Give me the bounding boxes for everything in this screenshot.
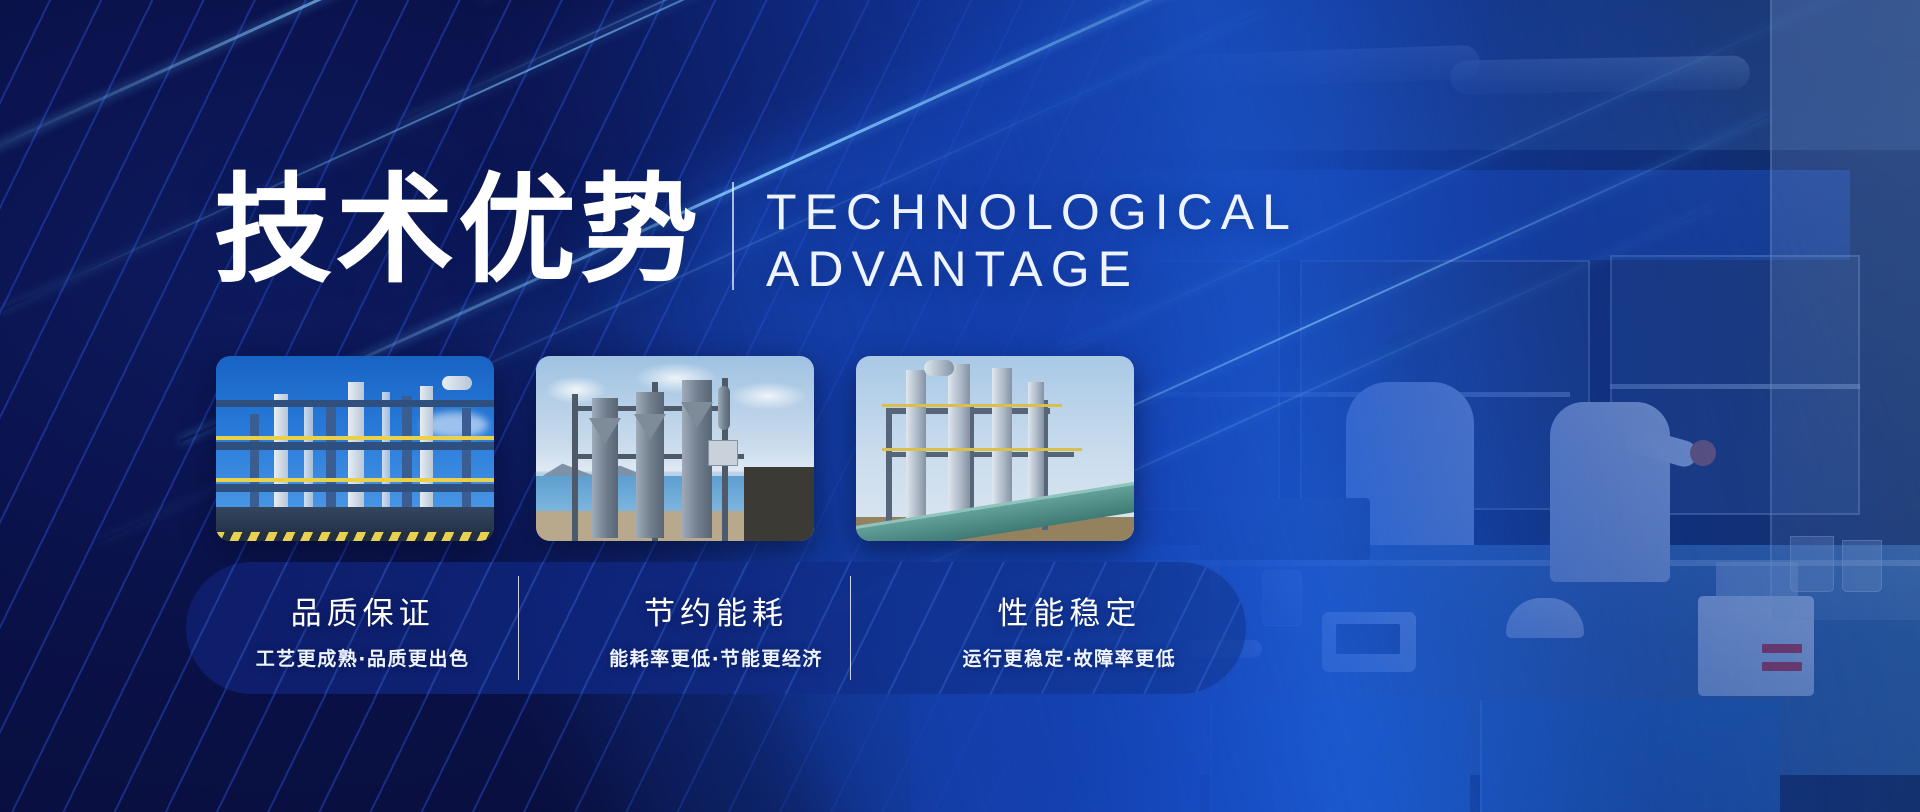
feature-item-energy[interactable]: 节约能耗 能耗率更低·节能更经济 bbox=[539, 586, 892, 671]
separator-cone bbox=[681, 402, 713, 428]
feature-title: 节约能耗 bbox=[539, 588, 892, 633]
headline-english-line1: TECHNOLOGICAL bbox=[766, 184, 1298, 241]
feature-divider bbox=[518, 576, 519, 680]
feature-item-quality[interactable]: 品质保证 工艺更成熟·品质更出色 bbox=[186, 586, 539, 671]
thumbnail-row bbox=[216, 356, 1134, 541]
column bbox=[948, 364, 970, 520]
elbow-pipe bbox=[924, 360, 954, 376]
feature-list: 品质保证 工艺更成熟·品质更出色 节约能耗 能耗率更低·节能更经济 性能稳定 运… bbox=[186, 562, 1246, 694]
platform-deck bbox=[216, 442, 494, 450]
feature-subtitle: 工艺更成熟·品质更出色 bbox=[186, 644, 539, 671]
light-beam bbox=[0, 0, 994, 183]
column bbox=[992, 368, 1012, 520]
pipe bbox=[304, 400, 313, 524]
photo-plant-pipe-bridge bbox=[856, 356, 1134, 541]
steel-frame bbox=[572, 394, 578, 541]
handrail bbox=[882, 404, 1062, 407]
headline-divider bbox=[732, 182, 734, 290]
hazard-stripe bbox=[216, 532, 494, 541]
structure-column bbox=[326, 400, 336, 524]
separator-cone bbox=[589, 418, 621, 444]
feature-divider bbox=[850, 576, 851, 680]
thumbnail-chemical-plant[interactable] bbox=[216, 356, 494, 541]
platform-deck bbox=[216, 484, 494, 492]
stack-pipe bbox=[718, 386, 730, 430]
control-box bbox=[708, 440, 738, 466]
platform-deck bbox=[216, 400, 494, 407]
handrail bbox=[882, 448, 1082, 451]
horizontal-vessel bbox=[442, 376, 472, 390]
headline-english-block: TECHNOLOGICAL ADVANTAGE bbox=[766, 168, 1298, 298]
thumbnail-plant-pipe-bridge[interactable] bbox=[856, 356, 1134, 541]
thumbnail-evaporator-towers[interactable] bbox=[536, 356, 814, 541]
banner-headline: 技术优势 TECHNOLOGICAL ADVANTAGE bbox=[214, 168, 1298, 298]
distillation-column bbox=[274, 394, 288, 524]
handrail bbox=[216, 436, 494, 440]
feature-title: 品质保证 bbox=[186, 588, 539, 633]
headline-english-line2: ADVANTAGE bbox=[766, 241, 1298, 298]
light-beam bbox=[480, 0, 1573, 2]
column bbox=[906, 370, 926, 520]
building bbox=[744, 467, 814, 541]
feature-subtitle: 能耗率更低·节能更经济 bbox=[539, 644, 892, 671]
feature-item-stability[interactable]: 性能稳定 运行更稳定·故障率更低 bbox=[893, 586, 1246, 671]
feature-panel: 品质保证 工艺更成熟·品质更出色 节约能耗 能耗率更低·节能更经济 性能稳定 运… bbox=[186, 562, 1246, 694]
photo-chemical-plant bbox=[216, 356, 494, 541]
pipe bbox=[382, 392, 390, 524]
photo-evaporator-towers bbox=[536, 356, 814, 541]
feature-subtitle: 运行更稳定·故障率更低 bbox=[893, 644, 1246, 671]
technological-advantage-banner: 技术优势 TECHNOLOGICAL ADVANTAGE bbox=[0, 0, 1920, 812]
light-beam bbox=[400, 0, 1475, 122]
feature-title: 性能稳定 bbox=[893, 588, 1246, 633]
separator-cone bbox=[634, 414, 666, 440]
headline-chinese: 技术优势 bbox=[214, 168, 702, 293]
handrail bbox=[216, 478, 494, 482]
structure-column bbox=[402, 396, 412, 524]
steel-frame bbox=[886, 410, 892, 530]
